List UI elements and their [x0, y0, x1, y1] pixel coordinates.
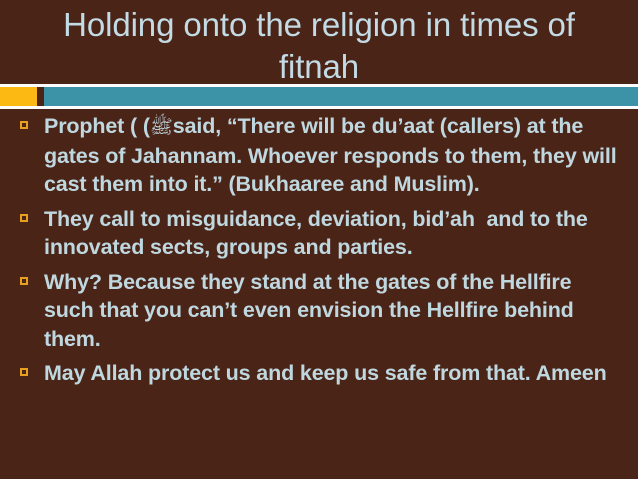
- list-item: Prophet ( (ﷺsaid, “There will be du’aat …: [0, 112, 638, 199]
- list-item: May Allah protect us and keep us safe fr…: [0, 359, 638, 388]
- orange-accent-block-icon: [0, 87, 37, 106]
- bullet-text: Prophet ( (ﷺsaid, “There will be du’aat …: [44, 112, 620, 199]
- bullet-text: Why? Because they stand at the gates of …: [44, 268, 620, 354]
- list-item: Why? Because they stand at the gates of …: [0, 268, 638, 354]
- decorative-divider: [0, 84, 638, 109]
- hollow-square-bullet-icon: [20, 368, 28, 376]
- list-item: They call to misguidance, deviation, bid…: [0, 205, 638, 262]
- teal-divider-bar: [44, 87, 638, 106]
- sallallahu-alayhi-wasallam-glyph-icon: ﷺ: [150, 116, 173, 138]
- hollow-square-bullet-icon: [20, 214, 28, 222]
- bullet-list: Prophet ( (ﷺsaid, “There will be du’aat …: [0, 112, 638, 394]
- bullet-text: They call to misguidance, deviation, bid…: [44, 205, 620, 262]
- divider-rule-bottom: [0, 106, 638, 109]
- bullet-text-lead: Prophet ( (: [44, 114, 150, 138]
- page-title: Holding onto the religion in times of fi…: [0, 4, 638, 88]
- presentation-slide: Holding onto the religion in times of fi…: [0, 0, 638, 479]
- bullet-text: May Allah protect us and keep us safe fr…: [44, 359, 620, 388]
- hollow-square-bullet-icon: [20, 277, 28, 285]
- slide-title-block: Holding onto the religion in times of fi…: [0, 4, 638, 88]
- hollow-square-bullet-icon: [20, 121, 28, 129]
